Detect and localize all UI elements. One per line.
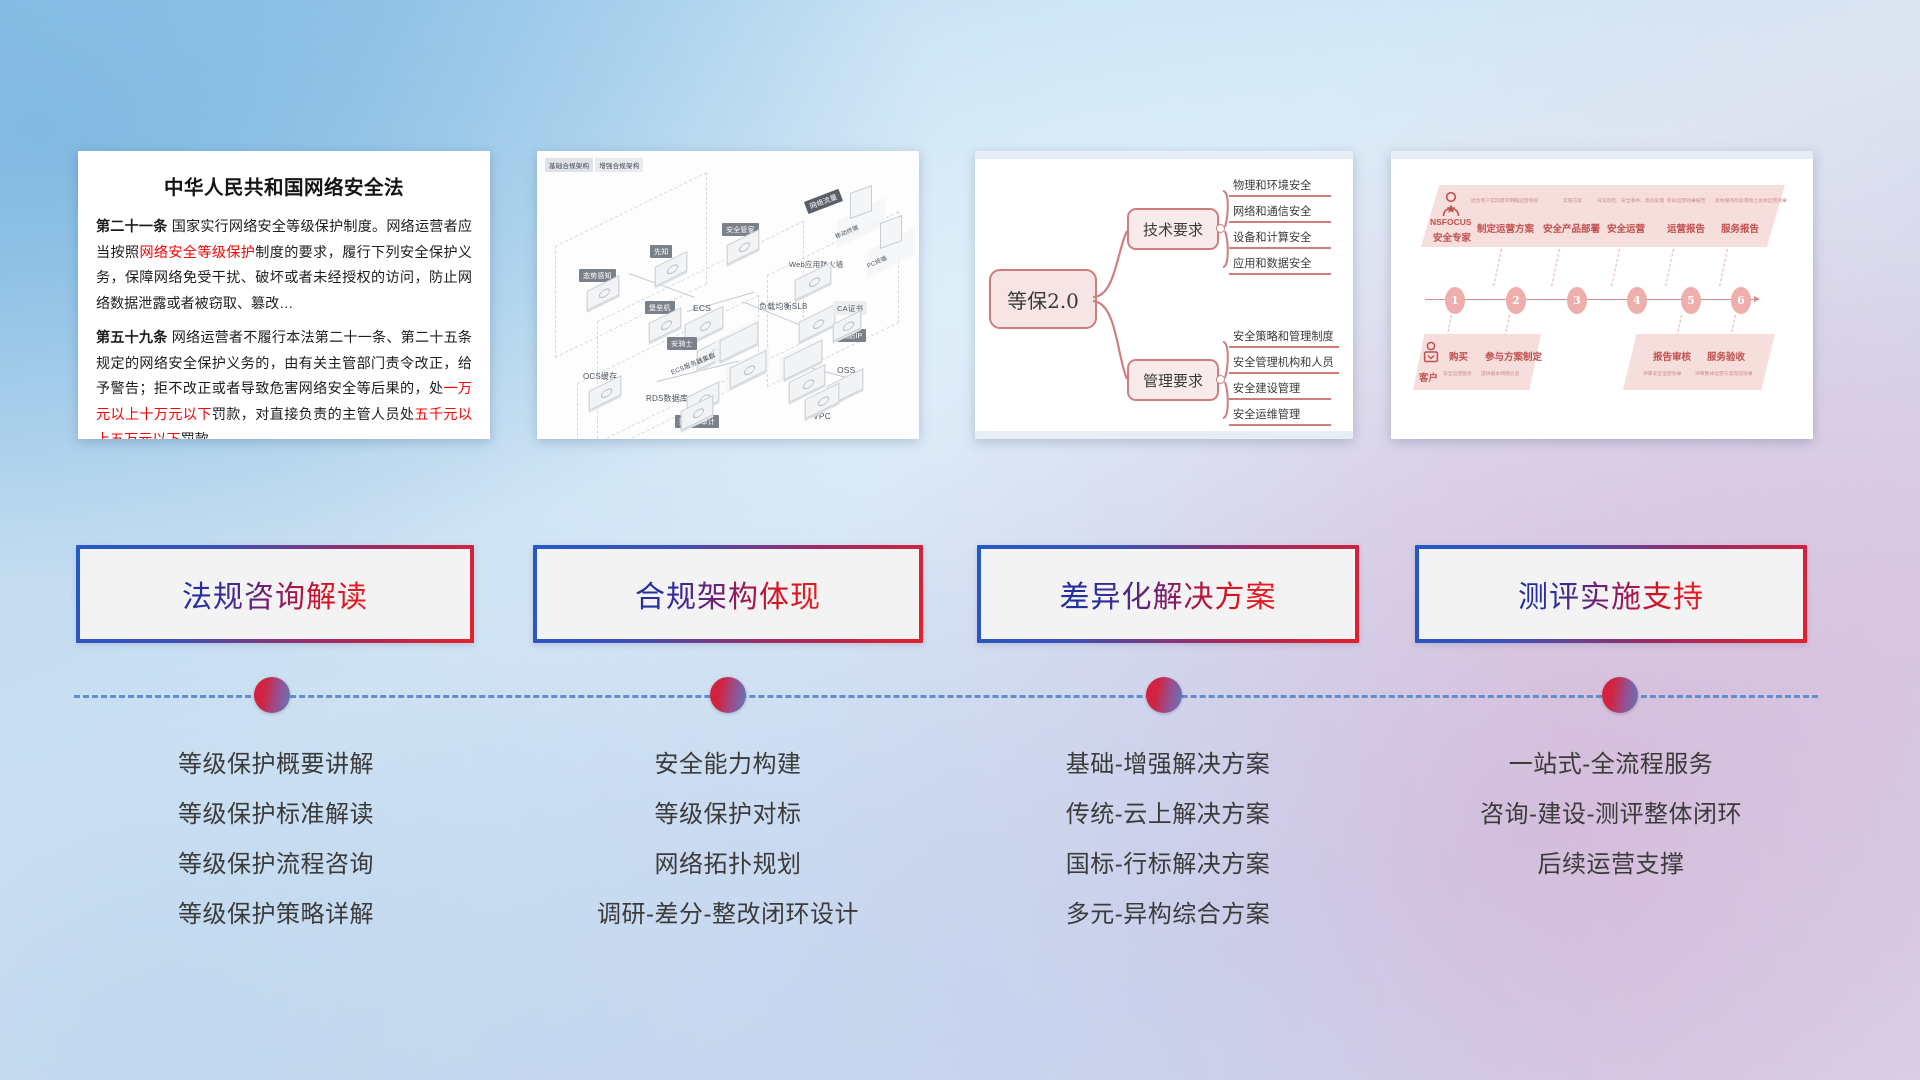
list-item: 等级保护概要讲解 [76,740,476,790]
expert-person-icon [1439,191,1463,217]
card-service-process: NSFOCUS 安全专家 结合客户实际需求明确运营目标 制定运营方案 实施方案 … [1391,151,1813,439]
process-step-1[interactable]: 1 [1445,287,1465,314]
customer-action-2-title: 参与方案制定 [1485,349,1542,363]
list-item: 网络拓扑规划 [533,840,923,890]
list-item: 咨询-建设-测评整体闭环 [1415,790,1807,840]
expert-brand-label: NSFOCUS [1430,217,1472,227]
law-article-59-text-b: 罚款，对直接负责的主管人员处 [212,406,415,422]
customer-role-label: 客户 [1419,370,1438,384]
mindmap-knob-technical[interactable] [1216,224,1225,233]
heading-label-compliance-architecture: 合规架构体现 [635,572,821,616]
node-label-slb: 负载均衡SLB [755,299,812,313]
list-item: 等级保护策略详解 [76,890,476,940]
mindmap-underline-1-0 [1229,346,1339,348]
mindmap-leaf-device-compute: 设备和计算安全 [1233,229,1311,247]
card-cybersecurity-law: 中华人民共和国网络安全法 第二十一条 国家实行网络安全等级保护制度。网络运营者应… [78,151,490,439]
drop-line-6 [1719,249,1728,286]
drop-line-customer-2 [1504,315,1510,337]
cloud-diagram: 基础合规架构 增强合规架构 网络流量 [537,151,919,439]
step-5-sub: 阶段运营效果报告 [1667,197,1705,204]
mindmap-leaf-physical-env: 物理和环境安全 [1233,177,1311,195]
mindmap-knob-management[interactable] [1216,375,1225,384]
mindmap-underline-1-2 [1229,398,1331,400]
review-action-1-title: 报告审核 [1653,349,1691,363]
step-3-sub: 实施方案 [1563,197,1582,204]
timeline-dashed-line [74,695,1818,698]
process-step-5[interactable]: 5 [1681,287,1701,314]
step-2-title: 制定运营方案 [1477,221,1534,235]
customer-action-1-sub: 安全运营服务 [1443,370,1472,377]
mindmap-leaf-app-data: 应用和数据安全 [1233,255,1311,273]
drop-line-4 [1611,249,1620,286]
list-item: 传统-云上解决方案 [977,790,1359,840]
drop-line-customer-1 [1446,315,1452,337]
heading-box-regulation-consulting[interactable]: 法规咨询解读 [76,545,474,643]
list-item: 等级保护对标 [533,790,923,840]
process-step-6[interactable]: 6 [1731,287,1751,314]
law-article-59: 第五十九条 网络运营者不履行本法第二十一条、第二十五条规定的网络安全保护义务的，… [96,325,472,439]
mindmap-leaf-policy-system: 安全策略和管理制度 [1233,328,1334,346]
detail-list-assessment-support: 一站式-全流程服务 咨询-建设-测评整体闭环 后续运营支撑 [1415,740,1807,890]
drop-line-5 [1665,249,1674,286]
heading-row: 法规咨询解读 合规架构体现 差异化解决方案 测评实施支持 [0,545,1920,643]
list-item: 调研-差分-整改闭环设计 [533,890,923,940]
review-action-2-title: 服务验收 [1707,349,1745,363]
drop-line-review-2 [1730,315,1736,337]
mindmap-underline-1-3 [1229,424,1331,426]
mindmap-leaf-network-comm: 网络和通信安全 [1233,203,1311,221]
node-label-xianzhi: 先知 [650,245,672,258]
isometric-canvas: 网络流量 安全管家 先知 态势感知 堡垒机 ECS 安骑士 OCS缓存 [537,151,919,439]
drop-line-3 [1551,249,1560,286]
step-4-sub: 日常巡检、安全事件、高危处理 [1597,197,1664,204]
node-label-ca-certificate: CA证书 [833,301,867,315]
slide-stage: 中华人民共和国网络安全法 第二十一条 国家实行网络安全等级保护制度。网络运营者应… [0,0,1920,1080]
step-6-sub: 总体服务阶段落地之总体运营效果 [1715,197,1787,204]
step-5-title: 运营报告 [1667,221,1705,235]
step-6-title: 服务报告 [1721,221,1759,235]
step-4-title: 安全运营 [1607,221,1645,235]
mindmap-branch-management: 管理要求 [1127,359,1219,401]
heading-label-assessment-support: 测评实施支持 [1518,572,1704,616]
law-article-21-highlight: 网络安全等级保护 [139,244,255,260]
customer-action-1-title: 购买 [1449,349,1468,363]
heading-box-differentiated-solutions[interactable]: 差异化解决方案 [977,545,1359,643]
law-document: 中华人民共和国网络安全法 第二十一条 国家实行网络安全等级保护制度。网络运营者应… [78,151,490,439]
detail-list-regulation-consulting: 等级保护概要讲解 等级保护标准解读 等级保护流程咨询 等级保护策略详解 [76,740,476,940]
node-label-rds: RDS数据库 [642,391,692,405]
mindmap-diagram: 等保2.0 技术要求 物理和环境安全 网络和通信安全 设备和计算安全 [975,151,1353,439]
detail-list-compliance-architecture: 安全能力构建 等级保护对标 网络拓扑规划 调研-差分-整改闭环设计 [533,740,923,940]
heading-label-regulation-consulting: 法规咨询解读 [182,572,368,616]
process-step-4[interactable]: 4 [1627,287,1647,314]
list-item: 国标-行标解决方案 [977,840,1359,890]
law-title: 中华人民共和国网络安全法 [96,171,472,200]
mindmap-branch-technical: 技术要求 [1127,208,1219,250]
mindmap-leaf-construction-mgmt: 安全建设管理 [1233,380,1300,398]
process-axis [1425,299,1755,300]
reference-card-row: 中华人民共和国网络安全法 第二十一条 国家实行网络安全等级保护制度。网络运营者应… [0,151,1920,441]
mindmap-footer-bar [975,431,1353,439]
card-cloud-architecture: 基础合规架构 增强合规架构 网络流量 [537,151,919,439]
list-item: 等级保护标准解读 [76,790,476,840]
timeline [0,660,1920,720]
review-band [1623,334,1775,390]
drop-line-2 [1493,249,1502,286]
process-diagram: NSFOCUS 安全专家 结合客户实际需求明确运营目标 制定运营方案 实施方案 … [1391,151,1813,439]
list-item: 一站式-全流程服务 [1415,740,1807,790]
process-step-3[interactable]: 3 [1567,287,1587,314]
timeline-dot-4[interactable] [1602,677,1638,713]
process-header-bar [1391,151,1813,159]
expert-role-label: 安全专家 [1433,230,1471,244]
customer-person-icon [1421,341,1441,367]
mindmap-root-node: 等保2.0 [989,269,1097,329]
mindmap-leaf-ops-mgmt: 安全运维管理 [1233,406,1300,424]
node-label-anqishi: 安骑士 [667,337,697,350]
customer-action-2-sub: 提供基本网络信息 [1481,370,1519,377]
node-label-network-traffic: 网络流量 [804,189,843,214]
heading-label-differentiated-solutions: 差异化解决方案 [1060,572,1277,616]
list-item: 安全能力构建 [533,740,923,790]
mindmap-underline-0-0 [1229,195,1331,197]
mindmap-leaf-org-personnel: 安全管理机构和人员 [1233,354,1334,372]
mindmap-underline-0-3 [1229,273,1331,275]
step-2-sub: 结合客户实际需求明确运营目标 [1471,197,1538,204]
law-article-59-label: 第五十九条 [96,329,168,345]
detail-list-differentiated-solutions: 基础-增强解决方案 传统-云上解决方案 国标-行标解决方案 多元-异构综合方案 [977,740,1359,940]
mindmap-header-bar [975,151,1353,159]
detail-list-row: 等级保护概要讲解 等级保护标准解读 等级保护流程咨询 等级保护策略详解 安全能力… [0,740,1920,960]
timeline-dot-3[interactable] [1146,677,1182,713]
heading-box-compliance-architecture[interactable]: 合规架构体现 [533,545,923,643]
law-article-21: 第二十一条 国家实行网络安全等级保护制度。网络运营者应当按照网络安全等级保护制度… [96,214,472,316]
drop-line-review-1 [1676,315,1682,337]
process-expert-band [1421,185,1785,247]
review-action-2-sub: 评审整体运营方案完成效果 [1695,370,1753,377]
list-item: 等级保护流程咨询 [76,840,476,890]
list-item: 后续运营支撑 [1415,840,1807,890]
card-mindmap: 等保2.0 技术要求 物理和环境安全 网络和通信安全 设备和计算安全 [975,151,1353,439]
mindmap-underline-0-2 [1229,247,1331,249]
list-item: 基础-增强解决方案 [977,740,1359,790]
list-item: 多元-异构综合方案 [977,890,1359,940]
process-step-2[interactable]: 2 [1506,287,1526,314]
timeline-dot-2[interactable] [710,677,746,713]
review-action-1-sub: 评审安全运营效果 [1643,370,1681,377]
heading-box-assessment-support[interactable]: 测评实施支持 [1415,545,1807,643]
law-article-21-label: 第二十一条 [96,218,168,234]
law-article-59-text-c: 罚款。 [181,431,223,439]
mindmap-underline-1-1 [1229,372,1339,374]
timeline-dot-1[interactable] [254,677,290,713]
mindmap-underline-0-1 [1229,221,1331,223]
step-3-title: 安全产品部署 [1543,221,1600,235]
